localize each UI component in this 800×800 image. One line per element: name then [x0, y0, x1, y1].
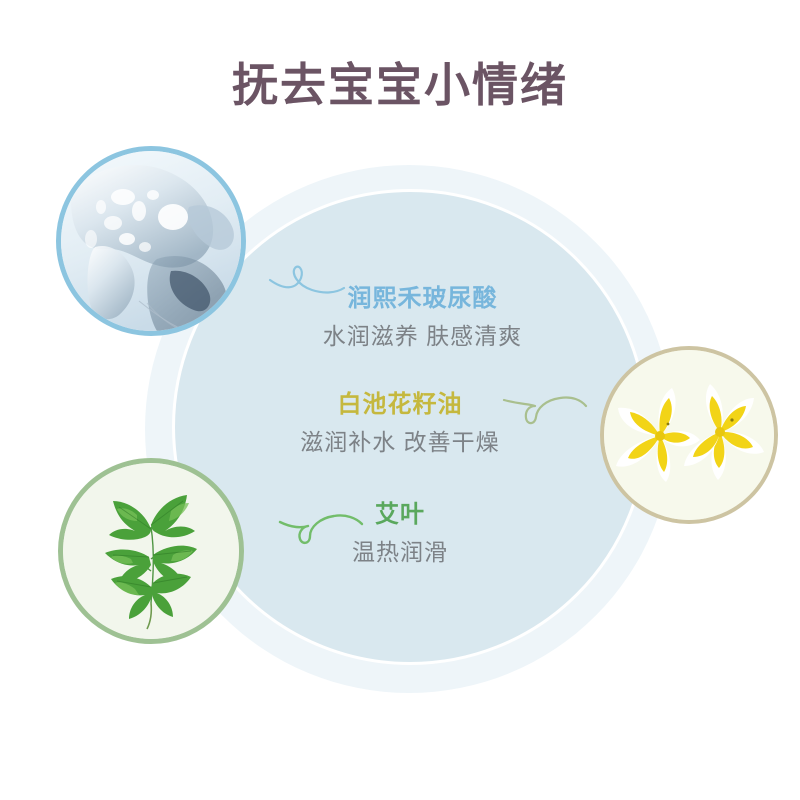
water-splash-illustration — [61, 151, 241, 331]
mugwort-leaf-illustration — [63, 463, 239, 639]
meadowfoam-flower-illustration — [604, 350, 774, 520]
product-feature-poster: 抚去宝宝小情绪 润熙禾玻尿酸 水润滋养 肤感清爽 白池花籽油 滋润补水 改善干燥… — [0, 0, 800, 800]
water-splash-photo — [56, 146, 246, 336]
meadowfoam-flower-photo — [600, 346, 778, 524]
mugwort-leaf-photo — [58, 458, 244, 644]
